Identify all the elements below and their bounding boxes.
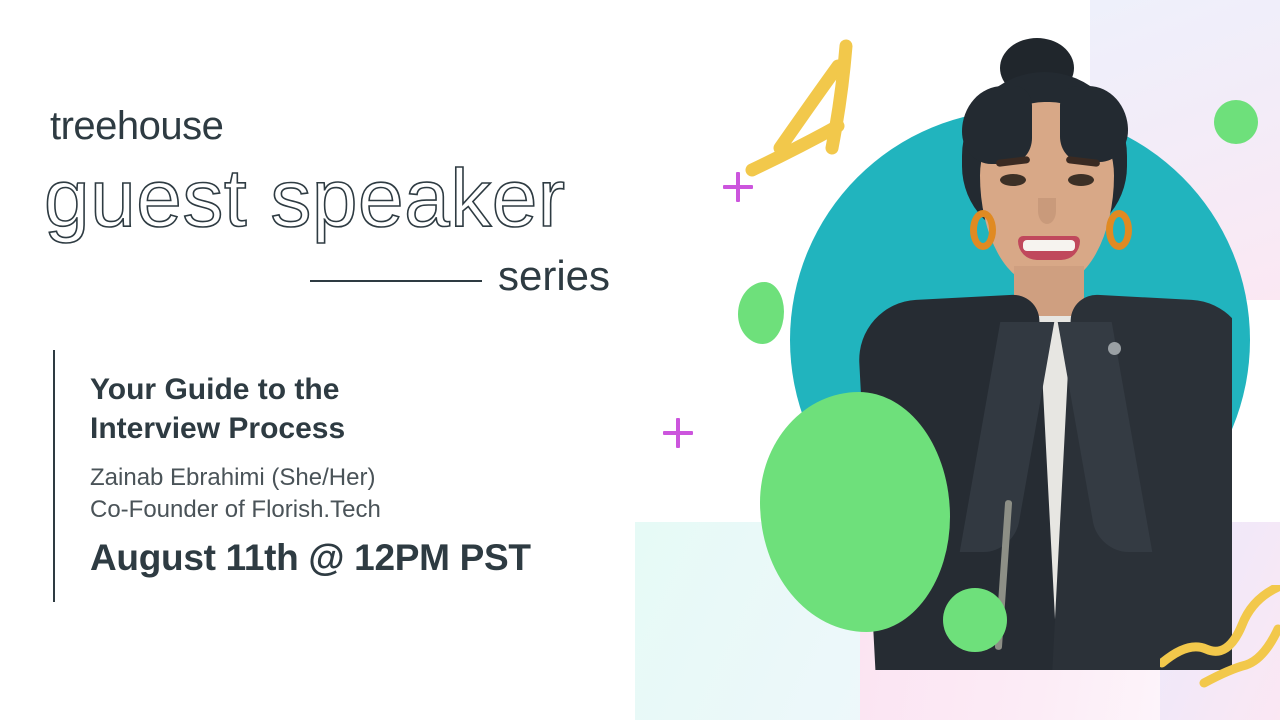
green-blob-small-shape xyxy=(738,282,784,344)
speaker-name: Zainab Ebrahimi (She/Her) xyxy=(90,462,375,494)
headline-outline-text: guest speaker xyxy=(44,158,566,240)
yellow-rays-icon xyxy=(740,30,920,200)
vertical-divider-rule xyxy=(53,350,55,602)
portrait-earring-left xyxy=(970,210,996,250)
portrait-nose xyxy=(1038,198,1056,224)
portrait-hair-front-right xyxy=(1060,86,1128,162)
event-title: Your Guide to the Interview Process xyxy=(90,370,510,448)
event-title-line-1: Your Guide to the xyxy=(90,373,339,406)
yellow-squiggles-icon xyxy=(1160,585,1280,690)
speaker-role: Co-Founder of Florish.Tech xyxy=(90,494,381,526)
event-title-line-2: Interview Process xyxy=(90,412,345,445)
green-dot-bottom-shape xyxy=(943,588,1007,652)
portrait-eye-left xyxy=(1000,174,1026,186)
portrait-mouth xyxy=(1018,236,1080,260)
portrait-teeth xyxy=(1023,240,1075,251)
portrait-eye-right xyxy=(1068,174,1094,186)
portrait-hair-front-left xyxy=(962,86,1032,164)
series-divider-rule xyxy=(310,280,482,282)
promo-graphic-canvas: treehouse guest speaker series Your Guid… xyxy=(0,0,1280,720)
plus-mark-icon-top xyxy=(723,172,753,202)
text-column: treehouse guest speaker series Your Guid… xyxy=(0,0,680,720)
event-date-time: August 11th @ 12PM PST xyxy=(90,536,531,580)
treehouse-wordmark: treehouse xyxy=(50,106,223,146)
portrait-earring-right xyxy=(1106,210,1132,250)
series-label: series xyxy=(498,255,610,297)
portrait-jacket-stud xyxy=(1108,342,1121,355)
